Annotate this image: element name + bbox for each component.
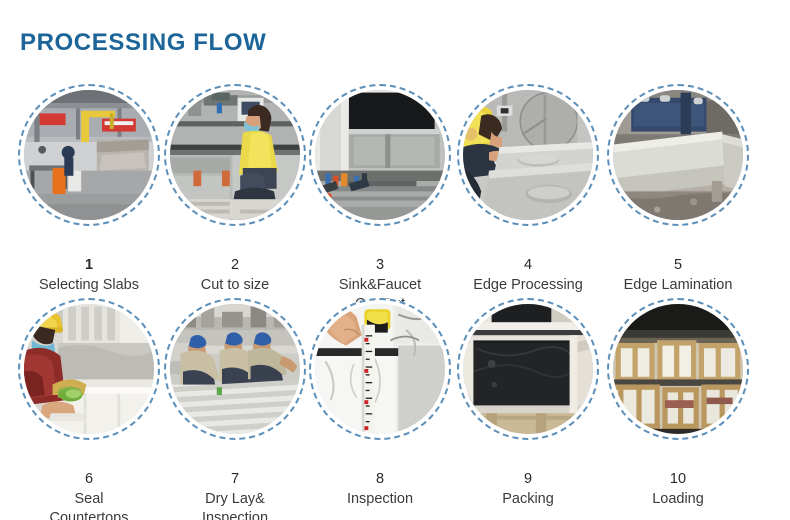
step-2-number: 2 [231, 257, 239, 273]
step-8-circle-frame [309, 298, 451, 440]
step-10-loading[interactable]: 10 Loading [603, 298, 753, 520]
step-10-circle-frame [607, 298, 749, 440]
step-10-caption: 10 Loading [599, 451, 757, 509]
step-2-cut-to-size[interactable]: 2 Cut to size [160, 84, 310, 314]
selecting-slabs-photo [24, 90, 154, 220]
steps-row-2: 6 Seal Countertops [0, 298, 790, 520]
edge-processing-photo [463, 90, 593, 220]
steps-row-1: 1 Selecting Slabs [0, 84, 790, 314]
processing-flow-page: PROCESSING FLOW [0, 0, 790, 520]
step-9-packing[interactable]: 9 Packing [453, 298, 603, 520]
step-3-number: 3 [376, 257, 384, 273]
seal-countertops-photo [24, 304, 154, 434]
step-7-label: Dry Lay& Inspection [202, 491, 268, 520]
step-2-label: Cut to size [201, 277, 270, 293]
inspection-photo [315, 304, 445, 434]
step-9-caption: 9 Packing [449, 451, 607, 509]
step-5-circle-frame [607, 84, 749, 226]
step-2-caption: 2 Cut to size [156, 237, 314, 295]
step-6-seal-countertops[interactable]: 6 Seal Countertops [14, 298, 164, 520]
step-9-number: 9 [524, 471, 532, 487]
step-8-caption: 8 Inspection [301, 451, 459, 509]
dry-lay-inspection-photo [170, 304, 300, 434]
page-title: PROCESSING FLOW [20, 29, 266, 57]
step-7-number: 7 [231, 471, 239, 487]
step-8-label: Inspection [347, 491, 413, 507]
sink-faucet-cutout-photo [315, 90, 445, 220]
step-3-sink-faucet-cutout[interactable]: 3 Sink&Faucet Cut Out [305, 84, 455, 314]
cut-to-size-photo [170, 90, 300, 220]
step-4-number: 4 [524, 257, 532, 273]
step-1-label: Selecting Slabs [39, 277, 139, 293]
step-1-circle-frame [18, 84, 160, 226]
step-5-label: Edge Lamination [624, 277, 733, 293]
step-7-circle-frame [164, 298, 306, 440]
step-9-circle-frame [457, 298, 599, 440]
step-10-number: 10 [670, 471, 686, 487]
step-8-inspection[interactable]: 8 Inspection [305, 298, 455, 520]
step-4-edge-processing[interactable]: 4 Edge Processing [453, 84, 603, 314]
edge-lamination-photo [613, 90, 743, 220]
step-7-dry-lay-inspection[interactable]: 7 Dry Lay& Inspection [160, 298, 310, 520]
step-4-label: Edge Processing [473, 277, 583, 293]
step-4-caption: 4 Edge Processing [449, 237, 607, 295]
step-6-caption: 6 Seal Countertops [10, 451, 168, 520]
step-1-caption: 1 Selecting Slabs [10, 237, 168, 295]
step-5-number: 5 [674, 257, 682, 273]
step-6-label: Seal Countertops [50, 491, 129, 520]
step-10-label: Loading [652, 491, 704, 507]
step-1-number: 1 [85, 257, 93, 273]
step-7-caption: 7 Dry Lay& Inspection [156, 451, 314, 520]
step-9-label: Packing [502, 491, 554, 507]
step-2-circle-frame [164, 84, 306, 226]
loading-photo [613, 304, 743, 434]
step-4-circle-frame [457, 84, 599, 226]
step-3-circle-frame [309, 84, 451, 226]
packing-photo [463, 304, 593, 434]
step-6-number: 6 [85, 471, 93, 487]
step-5-edge-lamination[interactable]: 5 Edge Lamination [603, 84, 753, 314]
step-5-caption: 5 Edge Lamination [599, 237, 757, 295]
step-6-circle-frame [18, 298, 160, 440]
step-8-number: 8 [376, 471, 384, 487]
step-1-selecting-slabs[interactable]: 1 Selecting Slabs [14, 84, 164, 314]
